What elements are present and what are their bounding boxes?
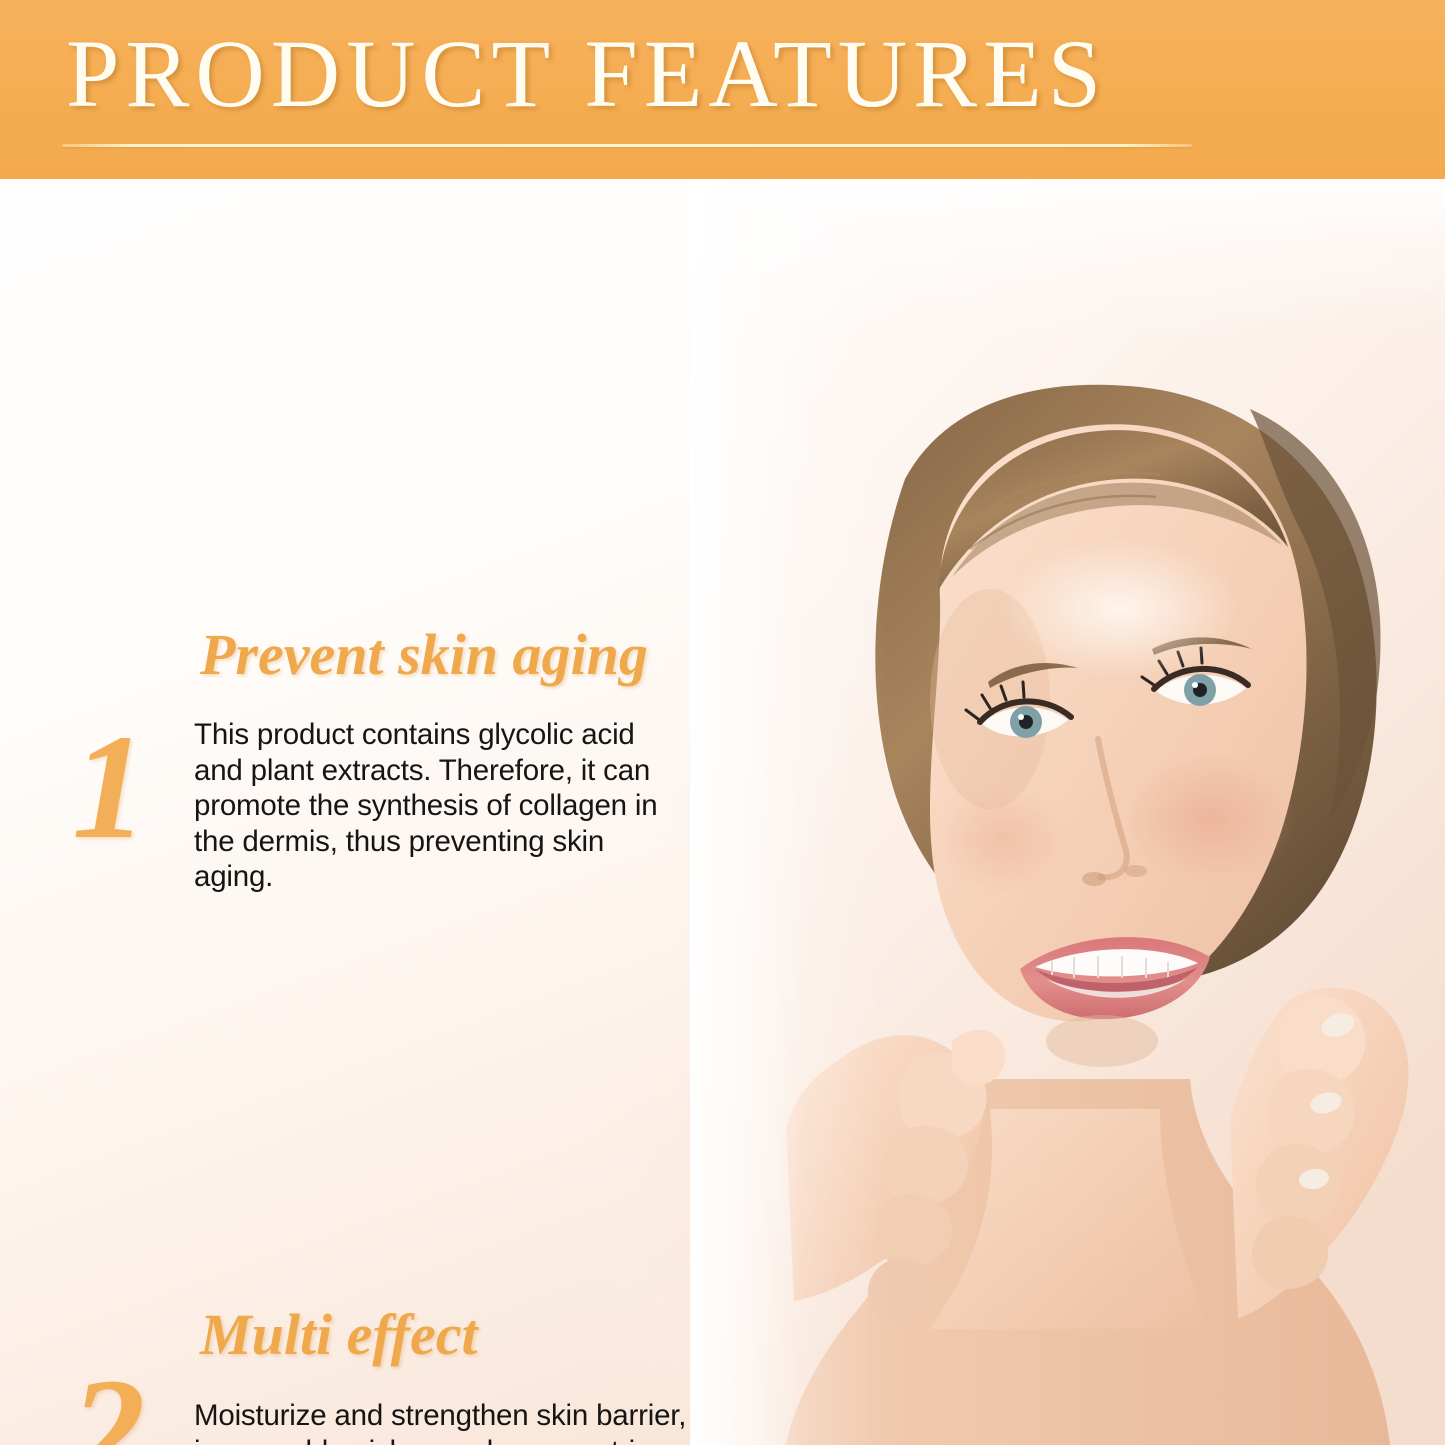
portrait-illustration bbox=[690, 179, 1445, 1445]
feature-item-1: 1 Prevent skin aging This product contai… bbox=[0, 310, 690, 600]
feature-item-2: 2 Multi effect Moisturize and strengthen… bbox=[0, 650, 690, 880]
feature-heading-2: Multi effect bbox=[200, 1305, 478, 1365]
page-title: PRODUCT FEATURES bbox=[66, 26, 1107, 122]
product-features-page: PRODUCT FEATURES 1 Prevent skin aging Th… bbox=[0, 0, 1445, 1445]
model-photo bbox=[690, 179, 1445, 1445]
title-underline bbox=[62, 144, 1192, 147]
feature-number-2: 2 bbox=[70, 1356, 145, 1445]
feature-item-3: 3 Suitable for skin type Dry skin, oily … bbox=[0, 920, 690, 1240]
header-banner: PRODUCT FEATURES bbox=[0, 0, 1445, 179]
feature-body-2: Moisturize and strengthen skin barrier, … bbox=[194, 1398, 694, 1445]
